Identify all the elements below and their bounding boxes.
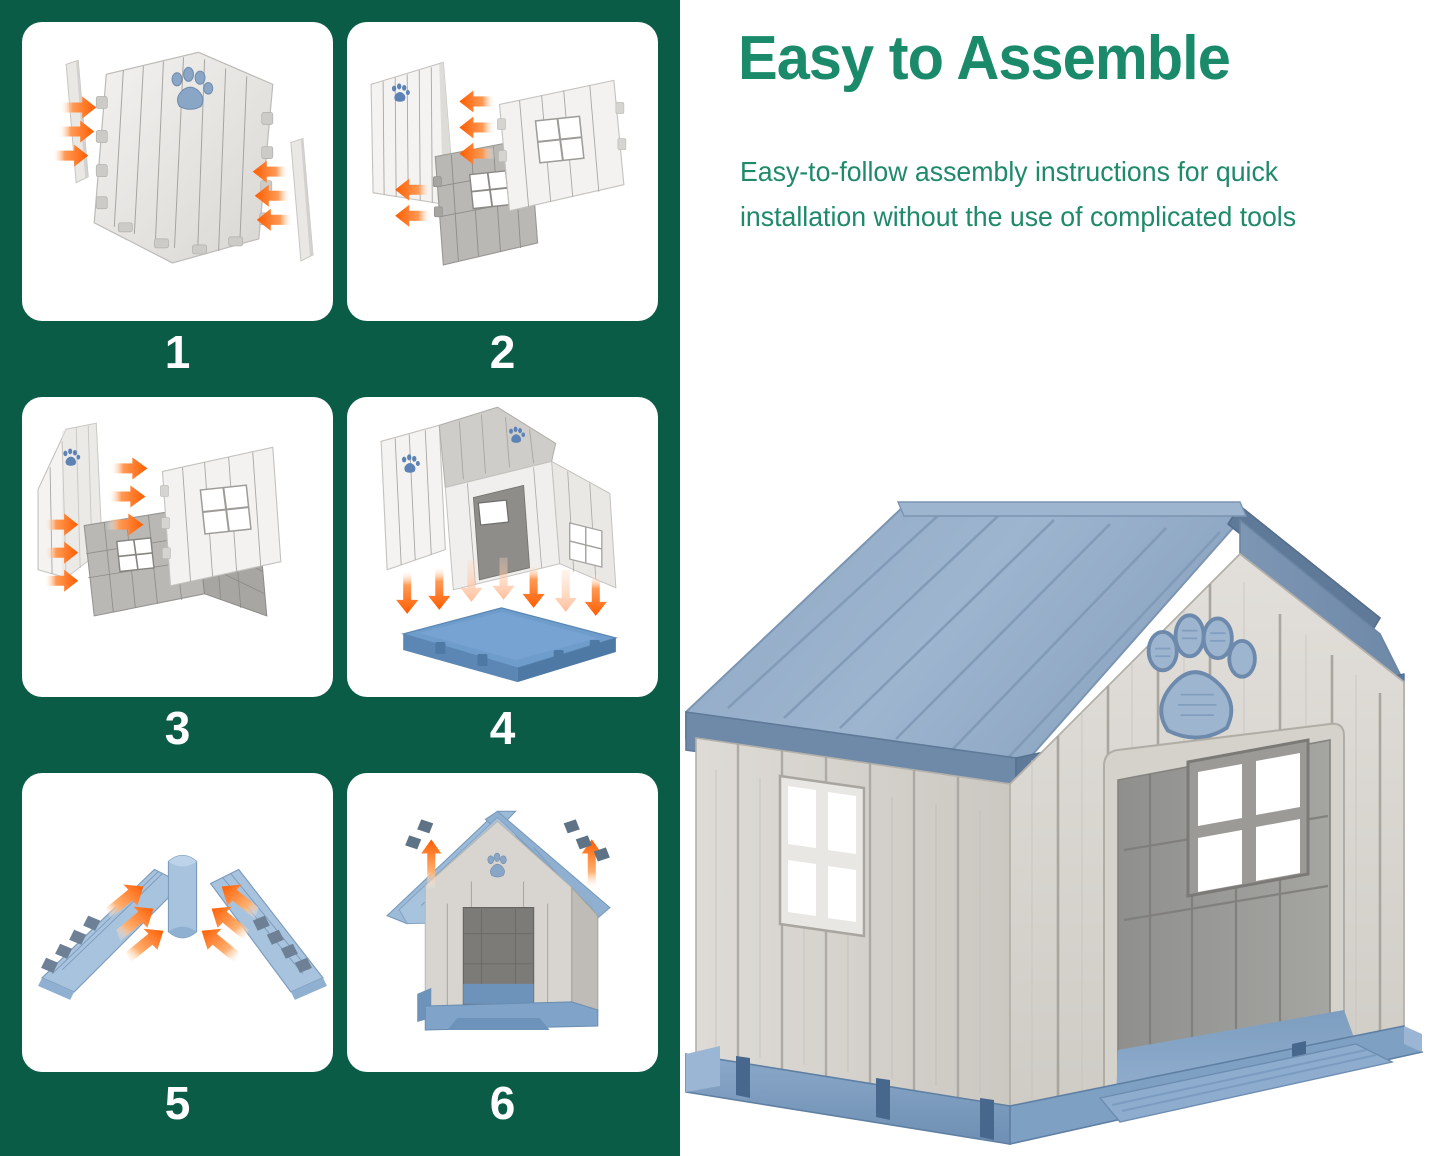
step-1-illustration [22,22,333,321]
assembly-steps-grid: 1 [22,22,658,1134]
step-3-illustration [22,397,333,696]
step-3-number: 3 [22,697,333,759]
product-hero-image [680,450,1445,1156]
left-trim-strip [66,60,88,182]
assembly-arrow-icon [106,458,147,536]
assembled-walls [381,408,616,591]
assembly-step-2: 2 [347,22,658,383]
step-6-diagram [347,773,658,1072]
assembly-arrow-icon [44,514,78,592]
assembly-step-6: 6 [347,773,658,1134]
step-4-diagram [347,397,658,696]
step-1-diagram [22,22,333,321]
step-2-illustration [347,22,658,321]
assembly-step-3: 3 [22,397,333,758]
doorway [1104,724,1360,1098]
side-window [780,776,864,936]
left-side-wall [696,738,1010,1110]
assembly-steps-panel: 1 [0,0,680,1156]
right-trim-strip [291,139,313,261]
interior-window [1188,740,1308,896]
step-6-number: 6 [347,1072,658,1134]
wall-window [570,523,602,567]
dog-house-render [680,450,1445,1156]
assembly-step-4: 4 [347,397,658,758]
upper-side-wall-panel [497,80,625,210]
wall-window [536,116,584,163]
wall-window [117,538,154,571]
wall-window [470,171,509,209]
step-5-number: 5 [22,1072,333,1134]
step-5-illustration [22,773,333,1072]
right-wall-panel [160,448,280,586]
assembly-arrow-icon [253,161,293,231]
step-1-number: 1 [22,321,333,383]
assembly-step-1: 1 [22,22,333,383]
step-4-illustration [347,397,658,696]
step-4-number: 4 [347,697,658,759]
assembly-arrow-icon [52,96,96,166]
wall-window [200,486,251,535]
product-feature-pane: Easy to Assemble Easy-to-follow assembly… [680,0,1445,1156]
assembly-step-5: 5 [22,773,333,1134]
step-2-number: 2 [347,321,658,383]
step-3-diagram [22,397,333,696]
base-tray [403,608,616,682]
ridge-cap [168,855,196,937]
front-wall-panel [94,52,273,263]
page-title: Easy to Assemble [738,26,1410,91]
step-2-diagram [347,22,658,321]
step-6-illustration [347,773,658,1072]
page-subtitle: Easy-to-follow assembly instructions for… [740,150,1400,239]
front-wall [425,821,571,1010]
step-5-diagram [22,773,333,1072]
